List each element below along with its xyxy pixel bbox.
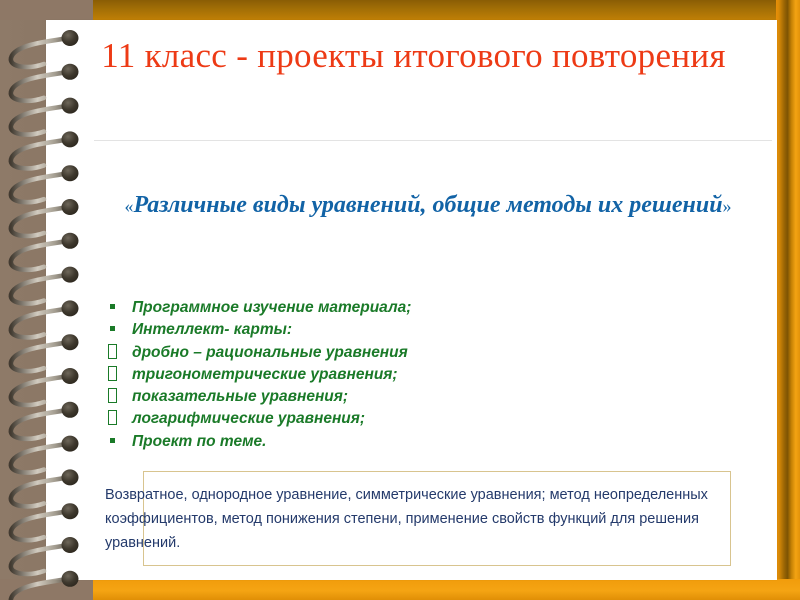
- frame-bottom-band: [0, 579, 800, 600]
- bullet-marker: [107, 319, 132, 341]
- bullet-marker: [107, 342, 132, 364]
- bullet-box-icon: [108, 388, 117, 403]
- bullet-item: тригонометрические уравнения;: [107, 364, 577, 386]
- frame-right-gold-band: [776, 0, 800, 600]
- binding-top-cap: [0, 0, 93, 20]
- bullet-marker: [107, 297, 132, 319]
- bullet-label: тригонометрические уравнения;: [132, 364, 398, 386]
- bullet-list: Программное изучение материала;Интеллект…: [107, 297, 577, 453]
- binding-bottom-cap: [0, 579, 93, 600]
- bullet-box-icon: [108, 410, 117, 425]
- bullet-marker: [107, 386, 132, 408]
- bullet-square-icon: [110, 326, 115, 331]
- slide-title: 11 класс - проекты итогового повторения: [66, 32, 761, 79]
- bullet-item: Программное изучение материала;: [107, 297, 577, 319]
- subtitle-text: Различные виды уравнений, общие методы и…: [133, 192, 722, 218]
- subtitle-close-quote: »: [723, 196, 732, 216]
- bullet-marker: [107, 431, 132, 453]
- bullet-item: Интеллект- карты:: [107, 319, 577, 341]
- note-text: Возвратное, однородное уравнение, симмет…: [105, 483, 730, 555]
- bullet-item: Проект по теме.: [107, 431, 577, 453]
- bullet-box-icon: [108, 344, 117, 359]
- bullet-item: логарифмические уравнения;: [107, 408, 577, 430]
- title-divider-rule: [94, 140, 772, 141]
- bullet-item: дробно – рациональные уравнения: [107, 342, 577, 364]
- slide-content: 11 класс - проекты итогового повторения …: [46, 20, 777, 580]
- bullet-label: Программное изучение материала;: [132, 297, 411, 319]
- bullet-label: логарифмические уравнения;: [132, 408, 365, 430]
- bullet-marker: [107, 408, 132, 430]
- bullet-item: показательные уравнения;: [107, 386, 577, 408]
- bullet-label: дробно – рациональные уравнения: [132, 342, 408, 364]
- slide-subtitle: «Различные виды уравнений, общие методы …: [98, 190, 758, 222]
- bullet-square-icon: [110, 438, 115, 443]
- slide-canvas: 11 класс - проекты итогового повторения …: [0, 0, 800, 600]
- bullet-box-icon: [108, 366, 117, 381]
- bullet-marker: [107, 364, 132, 386]
- bullet-label: Интеллект- карты:: [132, 319, 292, 341]
- bullet-square-icon: [110, 304, 115, 309]
- bullet-label: показательные уравнения;: [132, 386, 348, 408]
- frame-top-band: [0, 0, 800, 20]
- bullet-label: Проект по теме.: [132, 431, 266, 453]
